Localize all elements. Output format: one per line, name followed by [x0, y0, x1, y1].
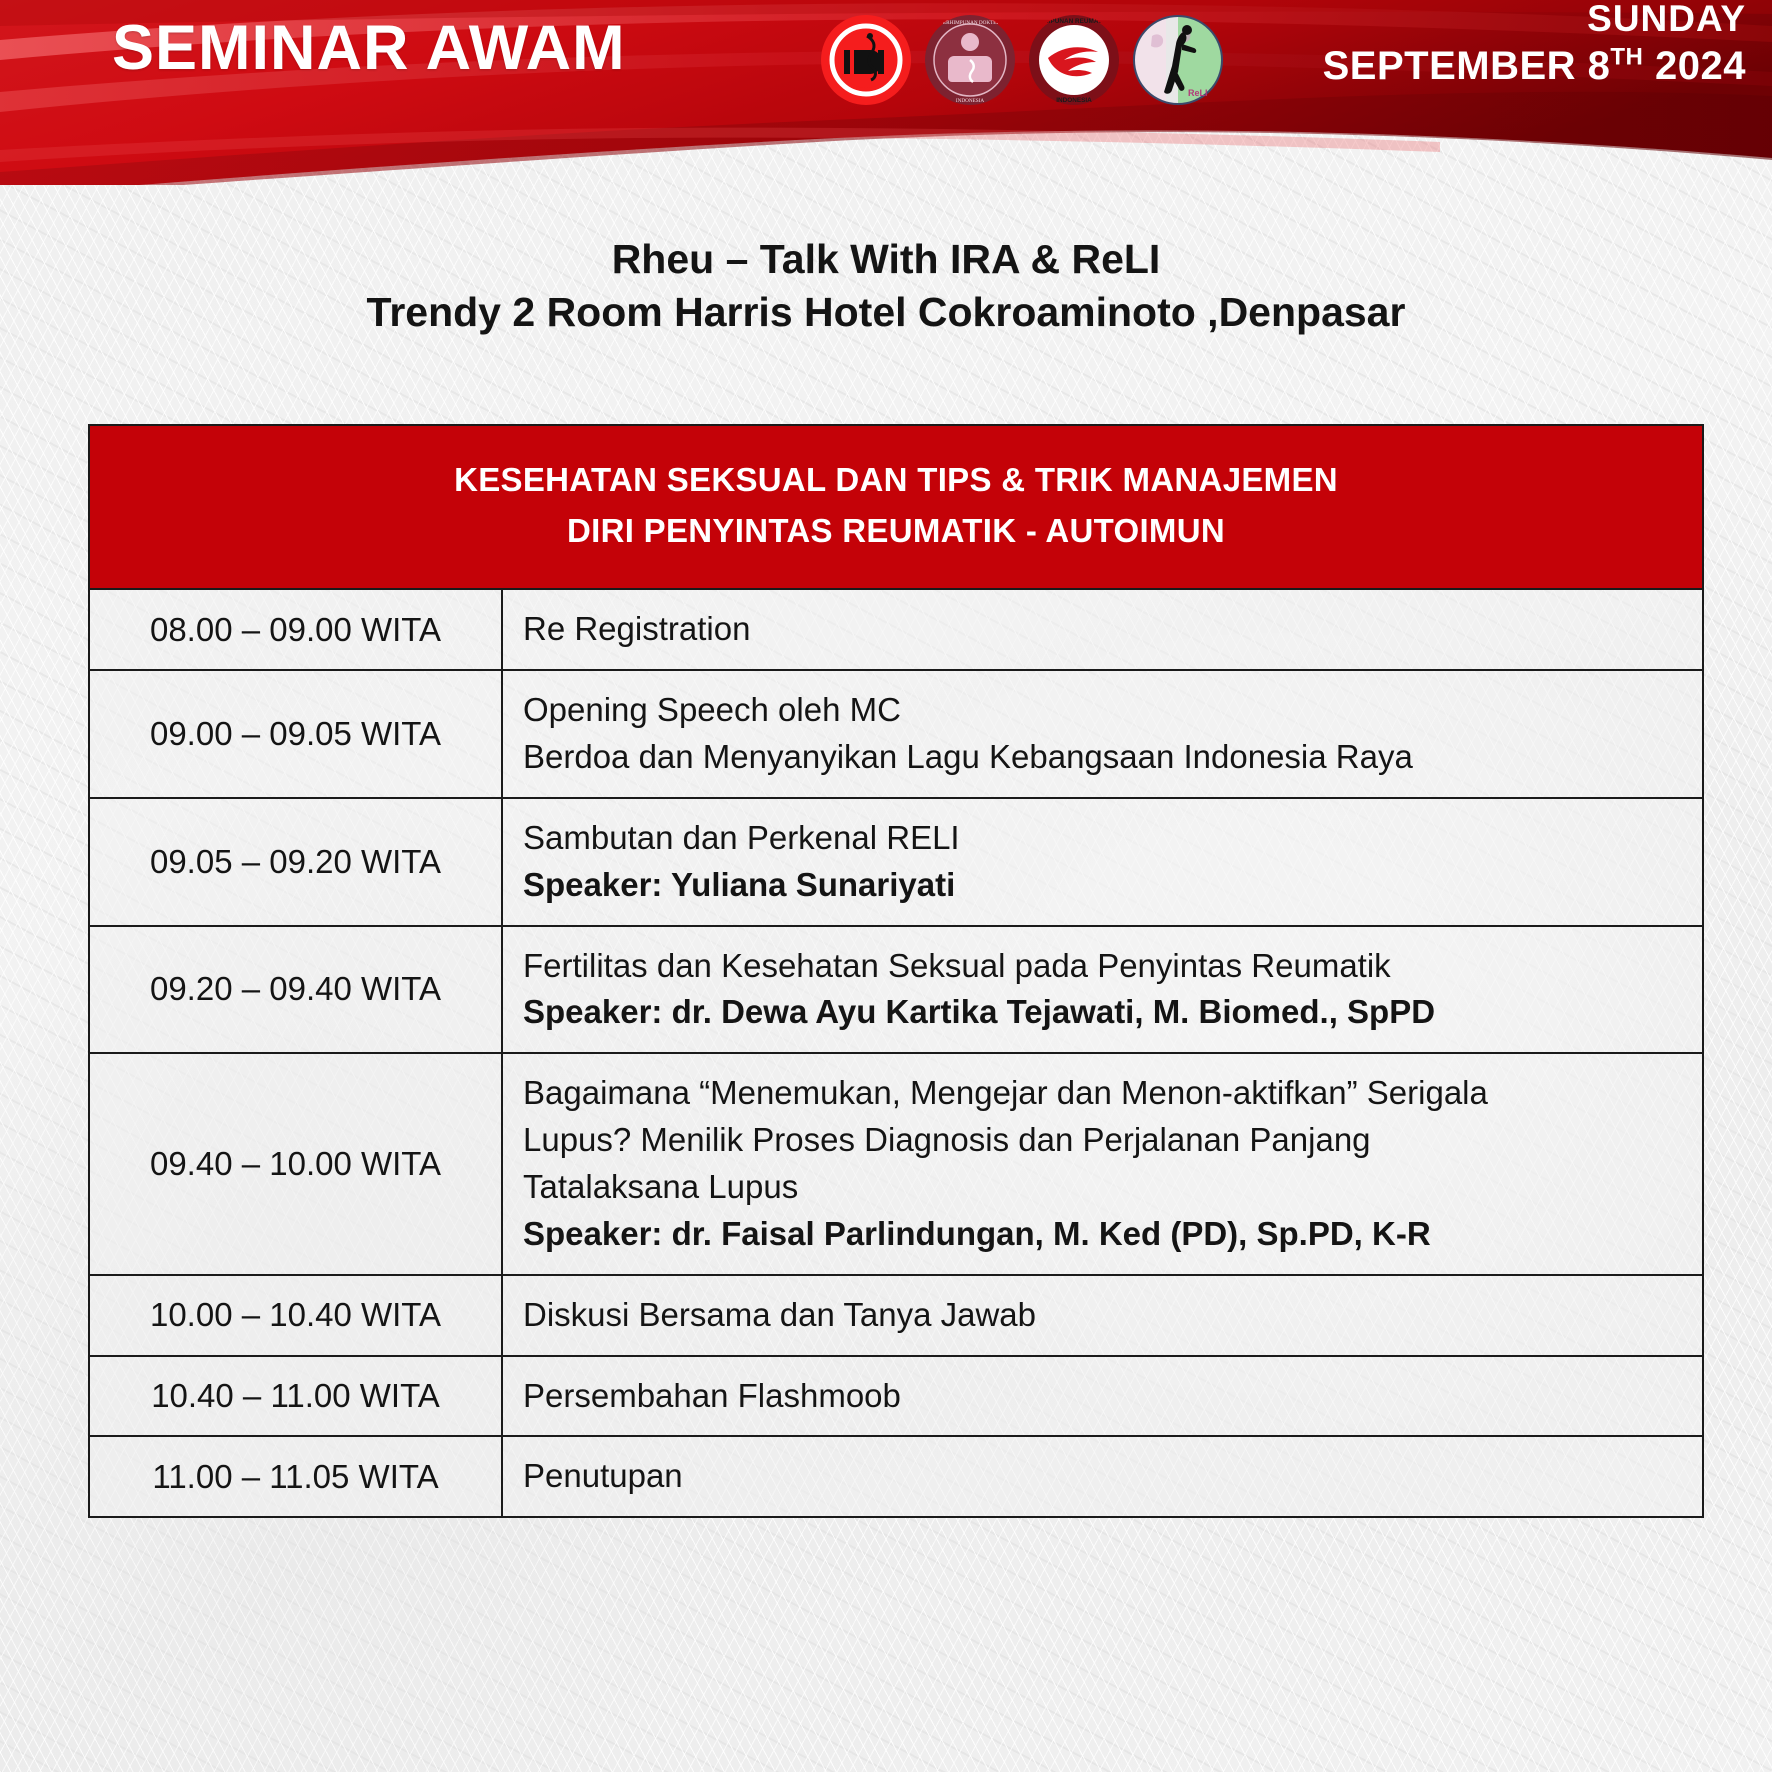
event-date-year: 2024 — [1643, 44, 1746, 88]
table-row: 09.00 – 09.05 WITAOpening Speech oleh MC… — [89, 670, 1703, 798]
agenda-description-line: Berdoa dan Menyanyikan Lagu Kebangsaan I… — [523, 734, 1684, 781]
idi-logo — [820, 14, 912, 106]
agenda-description-cell: Penutupan — [502, 1436, 1703, 1517]
table-row: 09.05 – 09.20 WITASambutan dan Perkenal … — [89, 798, 1703, 926]
agenda-description-line: Diskusi Bersama dan Tanya Jawab — [523, 1292, 1684, 1339]
agenda-time-cell: 09.20 – 09.40 WITA — [89, 926, 502, 1054]
svg-text:PERHIMPUNAN REUMATOLOGI: PERHIMPUNAN REUMATOLOGI — [1028, 18, 1120, 25]
svg-text:INDONESIA: INDONESIA — [956, 98, 984, 104]
event-title: Rheu – Talk With IRA & ReLI — [0, 236, 1772, 283]
reli-logo: ReLI — [1132, 14, 1224, 106]
svg-text:PERHIMPUNAN DOKTER: PERHIMPUNAN DOKTER — [940, 20, 1000, 26]
poster-page: SEMINAR AWAM — [0, 0, 1772, 1772]
agenda-time-cell: 10.00 – 10.40 WITA — [89, 1275, 502, 1356]
agenda-table: KESEHATAN SEKSUAL DAN TIPS & TRIK MANAJE… — [88, 424, 1704, 1518]
agenda-description-line: Lupus? Menilik Proses Diagnosis dan Perj… — [523, 1117, 1684, 1164]
agenda-time-cell: 09.00 – 09.05 WITA — [89, 670, 502, 798]
agenda-description-cell: Re Registration — [502, 589, 1703, 670]
agenda-header-line-1: KESEHATAN SEKSUAL DAN TIPS & TRIK MANAJE… — [100, 454, 1692, 505]
agenda-description-line: Fertilitas dan Kesehatan Seksual pada Pe… — [523, 943, 1684, 990]
agenda-speaker: Speaker: dr. Faisal Parlindungan, M. Ked… — [523, 1211, 1684, 1258]
agenda-time-cell: 08.00 – 09.00 WITA — [89, 589, 502, 670]
agenda-description-cell: Persembahan Flashmoob — [502, 1356, 1703, 1437]
agenda-description-line: Penutupan — [523, 1453, 1684, 1500]
page-title: SEMINAR AWAM — [112, 12, 626, 84]
papdi-logo: PERHIMPUNAN DOKTER INDONESIA — [924, 14, 1016, 106]
event-full-date: SEPTEMBER 8TH 2024 — [1323, 46, 1746, 86]
table-row: 08.00 – 09.00 WITARe Registration — [89, 589, 1703, 670]
agenda-description-cell: Bagaimana “Menemukan, Mengejar dan Menon… — [502, 1053, 1703, 1274]
agenda-time-cell: 09.05 – 09.20 WITA — [89, 798, 502, 926]
event-date: SUNDAY SEPTEMBER 8TH 2024 — [1323, 0, 1746, 86]
agenda-body: 08.00 – 09.00 WITARe Registration09.00 –… — [89, 589, 1703, 1517]
table-row: 10.40 – 11.00 WITAPersembahan Flashmoob — [89, 1356, 1703, 1437]
agenda-description-line: Tatalaksana Lupus — [523, 1164, 1684, 1211]
organizer-logos: PERHIMPUNAN DOKTER INDONESIA PERHIMPUNAN… — [820, 14, 1224, 106]
agenda-description-cell: Fertilitas dan Kesehatan Seksual pada Pe… — [502, 926, 1703, 1054]
agenda-description-cell: Diskusi Bersama dan Tanya Jawab — [502, 1275, 1703, 1356]
event-venue: Trendy 2 Room Harris Hotel Cokroaminoto … — [0, 289, 1772, 336]
header-banner: SEMINAR AWAM — [0, 0, 1772, 185]
event-date-main: SEPTEMBER 8 — [1323, 44, 1611, 88]
agenda-speaker: Speaker: Yuliana Sunariyati — [523, 862, 1684, 909]
agenda-speaker: Speaker: dr. Dewa Ayu Kartika Tejawati, … — [523, 989, 1684, 1036]
agenda-header-line-2: DIRI PENYINTAS REUMATIK - AUTOIMUN — [100, 505, 1692, 556]
table-row: 11.00 – 11.05 WITAPenutupan — [89, 1436, 1703, 1517]
agenda-description-cell: Opening Speech oleh MCBerdoa dan Menyany… — [502, 670, 1703, 798]
agenda-description-line: Bagaimana “Menemukan, Mengejar dan Menon… — [523, 1070, 1684, 1117]
event-date-ordinal: TH — [1610, 44, 1643, 71]
agenda-header-row: KESEHATAN SEKSUAL DAN TIPS & TRIK MANAJE… — [89, 425, 1703, 589]
table-row: 10.00 – 10.40 WITADiskusi Bersama dan Ta… — [89, 1275, 1703, 1356]
event-day: SUNDAY — [1323, 0, 1746, 37]
table-row: 09.20 – 09.40 WITAFertilitas dan Kesehat… — [89, 926, 1703, 1054]
agenda-description-line: Sambutan dan Perkenal RELI — [523, 815, 1684, 862]
ira-logo: PERHIMPUNAN REUMATOLOGI INDONESIA — [1028, 14, 1120, 106]
agenda-time-cell: 10.40 – 11.00 WITA — [89, 1356, 502, 1437]
agenda-description-line: Re Registration — [523, 606, 1684, 653]
agenda-time-cell: 11.00 – 11.05 WITA — [89, 1436, 502, 1517]
table-row: 09.40 – 10.00 WITABagaimana “Menemukan, … — [89, 1053, 1703, 1274]
agenda-description-line: Persembahan Flashmoob — [523, 1373, 1684, 1420]
agenda-time-cell: 09.40 – 10.00 WITA — [89, 1053, 502, 1274]
svg-text:INDONESIA: INDONESIA — [1056, 97, 1092, 104]
agenda-description-cell: Sambutan dan Perkenal RELISpeaker: Yulia… — [502, 798, 1703, 926]
svg-text:ReLI: ReLI — [1188, 88, 1208, 98]
agenda-header-cell: KESEHATAN SEKSUAL DAN TIPS & TRIK MANAJE… — [89, 425, 1703, 589]
agenda-description-line: Opening Speech oleh MC — [523, 687, 1684, 734]
